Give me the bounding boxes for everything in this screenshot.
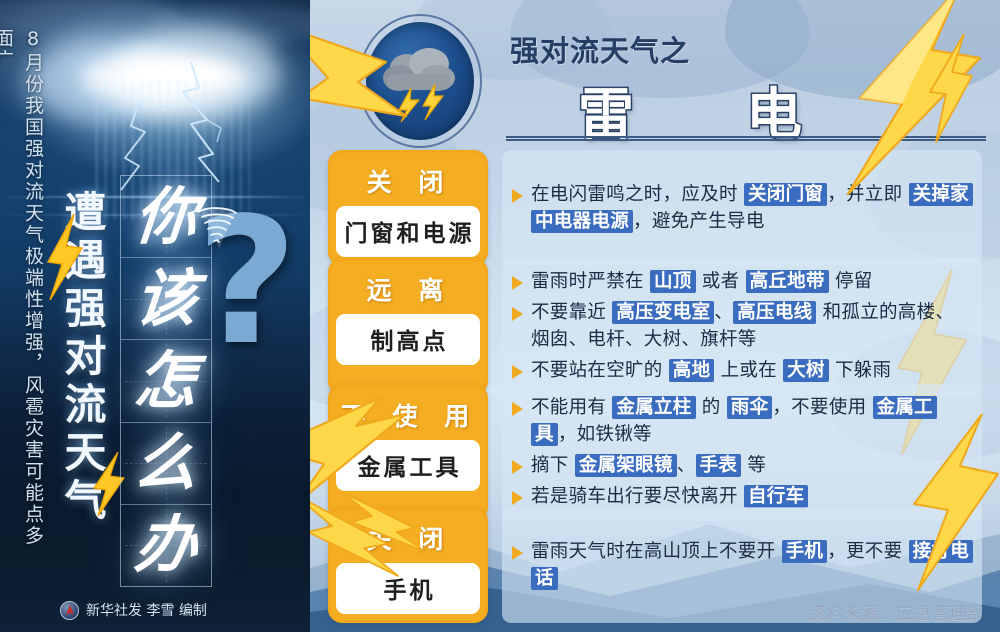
tip-badge[interactable]: 远 离 制高点	[328, 258, 488, 395]
bullet-text: 不要站在空旷的 高地 上或在 大树 下躲雨	[531, 357, 891, 384]
bullet-text: 雷雨天气时在高山顶上不要开 手机，更不要 接打电话	[531, 538, 970, 592]
tip-bullets: 在电闪雷鸣之时，应及时 关闭门窗，并立即 关掉家中电器电源，避免产生导电	[502, 150, 982, 266]
highlight-term: 手机	[782, 540, 828, 563]
bullet-triangle-icon	[512, 402, 523, 416]
highlight-term: 大树	[783, 359, 829, 382]
bullet-triangle-icon	[512, 491, 523, 505]
bullet-text: 在电闪雷鸣之时，应及时 关闭门窗，并立即 关掉家中电器电源，避免产生导电	[531, 181, 970, 235]
grid-char: 怎	[132, 350, 199, 412]
highlight-term: 金属立柱	[612, 396, 695, 419]
bullet-item: 在电闪雷鸣之时，应及时 关闭门窗，并立即 关掉家中电器电源，避免产生导电	[512, 181, 970, 235]
grid-char: 办	[132, 514, 199, 576]
badge-disc	[366, 22, 474, 140]
bullet-item: 不能用有 金属立柱 的 雨伞，不要使用 金属工具，如铁锹等	[512, 394, 970, 448]
highlight-term: 高压变电室	[612, 301, 714, 324]
tip-bullets: 雷雨时严禁在 山顶 或者 高丘地带 停留 不要靠近 高压变电室、高压电线 和孤立…	[502, 258, 982, 395]
highlight-term: 接打电话	[531, 540, 973, 590]
header-divider	[506, 136, 986, 141]
left-vertical-subtitle: 8月份我国强对流天气极端性增强，风雹灾害可能点多面广	[18, 28, 48, 568]
bullet-triangle-icon	[512, 546, 523, 560]
grid-char: 该	[132, 268, 199, 330]
bullet-text: 雷雨时严禁在 山顶 或者 高丘地带 停留	[531, 268, 873, 295]
tip-badge[interactable]: 关 闭 门窗和电源	[328, 150, 488, 266]
bullet-triangle-icon	[512, 276, 523, 290]
badge-subject-label: 手机	[336, 563, 480, 614]
badge-action-label: 远 离	[336, 266, 480, 314]
grid-cell: 么	[121, 423, 211, 505]
xinhua-logo-icon	[60, 601, 79, 620]
highlight-term: 关闭门窗	[744, 183, 827, 206]
infographic-poster: 8月份我国强对流天气极端性增强，风雹灾害可能点多面广 遭遇强对流天气 你 该 怎…	[0, 0, 1000, 632]
tip-badge[interactable]: 不 使 用 金属工具	[328, 384, 488, 521]
grid-char: 么	[132, 432, 199, 494]
bullet-item: 雷雨天气时在高山顶上不要开 手机，更不要 接打电话	[512, 538, 970, 592]
highlight-term: 雨伞	[727, 396, 773, 419]
left-cover-panel: 8月份我国强对流天气极端性增强，风雹灾害可能点多面广 遭遇强对流天气 你 该 怎…	[0, 0, 310, 632]
tip-row: 不 使 用 金属工具 不能用有 金属立柱 的 雨伞，不要使用 金属工具，如铁锹等…	[328, 384, 982, 521]
thundercloud-icon	[377, 38, 463, 124]
tip-row: 关 闭 手机 雷雨天气时在高山顶上不要开 手机，更不要 接打电话	[328, 507, 982, 623]
bullet-triangle-icon	[512, 460, 523, 474]
highlight-term: 高地	[669, 359, 715, 382]
tip-badge[interactable]: 关 闭 手机	[328, 507, 488, 623]
bullet-triangle-icon	[512, 307, 523, 321]
tip-row: 关 闭 门窗和电源 在电闪雷鸣之时，应及时 关闭门窗，并立即 关掉家中电器电源，…	[328, 150, 982, 266]
highlight-term: 金属架眼镜	[575, 454, 677, 477]
highlight-term: 手表	[696, 454, 742, 477]
badge-subject-label: 制高点	[336, 314, 480, 365]
tip-bullets: 不能用有 金属立柱 的 雨伞，不要使用 金属工具，如铁锹等 摘下 金属架眼镜、手…	[502, 384, 982, 521]
tip-bullets: 雷雨天气时在高山顶上不要开 手机，更不要 接打电话	[502, 507, 982, 623]
thundercloud-badge	[358, 14, 482, 148]
bullet-item: 不要靠近 高压变电室、高压电线 和孤立的高楼、烟囱、电杆、大树、旗杆等	[512, 299, 970, 353]
grid-char: 你	[132, 186, 199, 248]
credit-line: 新华社发 李雪 编制	[60, 600, 207, 620]
badge-subject-label: 金属工具	[336, 440, 480, 491]
badge-action-label: 不 使 用	[336, 392, 480, 440]
highlight-term: 高压电线	[733, 301, 816, 324]
left-vertical-main-title: 遭遇强对流天气	[60, 190, 108, 610]
highlight-term: 自行车	[744, 485, 808, 508]
highlight-term: 山顶	[650, 270, 696, 293]
badge-action-label: 关 闭	[336, 158, 480, 206]
credit-text: 新华社发 李雪 编制	[86, 600, 207, 620]
bullet-item: 摘下 金属架眼镜、手表 等	[512, 452, 970, 479]
grid-cell: 办	[121, 505, 211, 586]
bullet-triangle-icon	[512, 189, 523, 203]
bullet-text: 若是骑车出行要尽快离开 自行车	[531, 483, 808, 510]
bullet-text: 不要靠近 高压变电室、高压电线 和孤立的高楼、烟囱、电杆、大树、旗杆等	[531, 299, 970, 353]
bullet-text: 不能用有 金属立柱 的 雨伞，不要使用 金属工具，如铁锹等	[531, 394, 970, 448]
bullet-item: 若是骑车出行要尽快离开 自行车	[512, 483, 970, 510]
bullet-text: 摘下 金属架眼镜、手表 等	[531, 452, 766, 479]
bullet-item: 雷雨时严禁在 山顶 或者 高丘地带 停留	[512, 268, 970, 295]
tip-row: 远 离 制高点 雷雨时严禁在 山顶 或者 高丘地带 停留 不要靠近 高压变电室、…	[328, 258, 982, 395]
badge-action-label: 关 闭	[336, 515, 480, 563]
right-content-panel: 强对流天气之 雷 电 关 闭 门窗和电源 在电闪雷鸣之时，应及时 关闭门窗，并立…	[310, 0, 1000, 632]
header-subtitle: 强对流天气之	[510, 28, 690, 70]
bullet-triangle-icon	[512, 365, 523, 379]
tornado-icon	[196, 205, 240, 251]
sparkle-particles	[95, 72, 245, 118]
bullet-item: 不要站在空旷的 高地 上或在 大树 下躲雨	[512, 357, 970, 384]
badge-subject-label: 门窗和电源	[336, 206, 480, 257]
highlight-term: 高丘地带	[746, 270, 829, 293]
